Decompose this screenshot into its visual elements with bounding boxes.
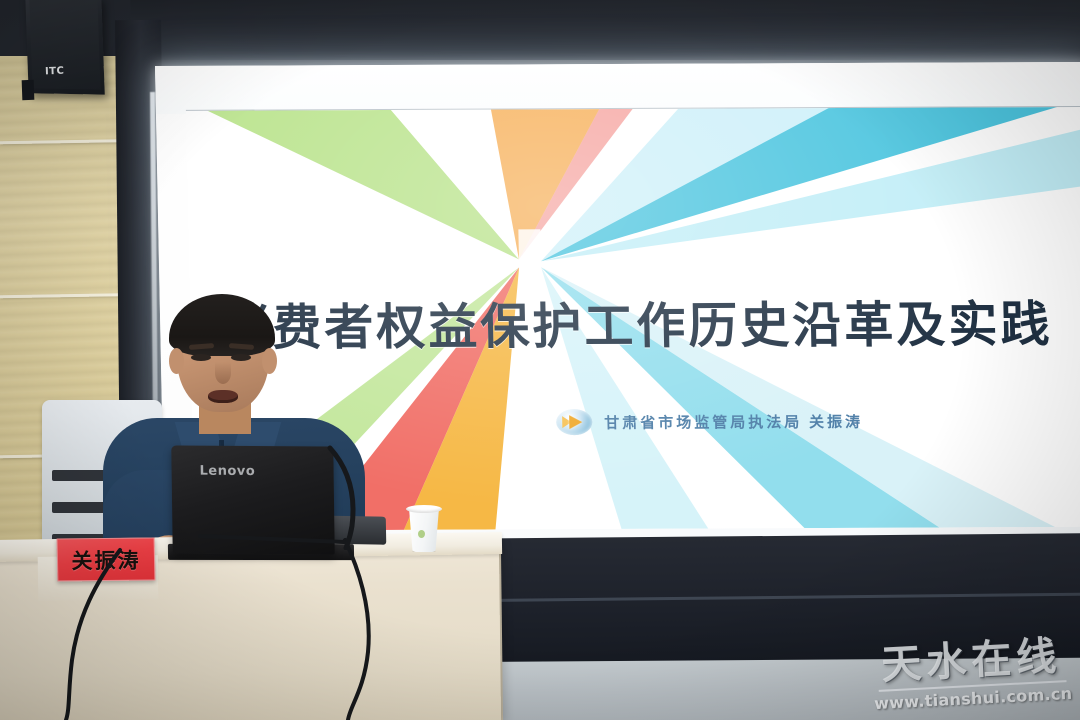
paper-cup-print xyxy=(418,530,425,538)
presenter-eye-left xyxy=(191,354,211,361)
paper-cup-rim xyxy=(406,505,442,513)
presenter-nose xyxy=(215,362,231,384)
lower-dark-wall xyxy=(439,533,1080,671)
name-plate: 关振涛 xyxy=(57,537,156,581)
presenter-hair xyxy=(169,294,275,356)
presenter-ear-right xyxy=(262,348,277,374)
presenter-ear-left xyxy=(169,348,184,374)
itc-brand-label: ITC xyxy=(45,66,65,78)
slide-byline: 甘肃省市场监管局执法局 关振涛 xyxy=(556,408,863,435)
presenter-eye-right xyxy=(231,354,251,361)
name-plate-text: 关振涛 xyxy=(71,544,141,575)
floor xyxy=(430,658,1080,720)
presenter-mouth xyxy=(208,390,238,403)
lenovo-brand-label: Lenovo xyxy=(199,464,255,479)
speaker-mount-bracket xyxy=(22,80,35,100)
speaker-grille xyxy=(29,0,100,90)
arrow-badge-icon xyxy=(556,409,593,435)
wall-speaker xyxy=(25,0,105,95)
presentation-photo-scene: ITC xyxy=(0,0,1080,720)
laptop-lid: Lenovo xyxy=(171,445,335,554)
paper-cup xyxy=(409,508,439,552)
arrow-outer-icon xyxy=(569,415,582,429)
slide-byline-text: 甘肃省市场监管局执法局 关振涛 xyxy=(604,410,863,432)
